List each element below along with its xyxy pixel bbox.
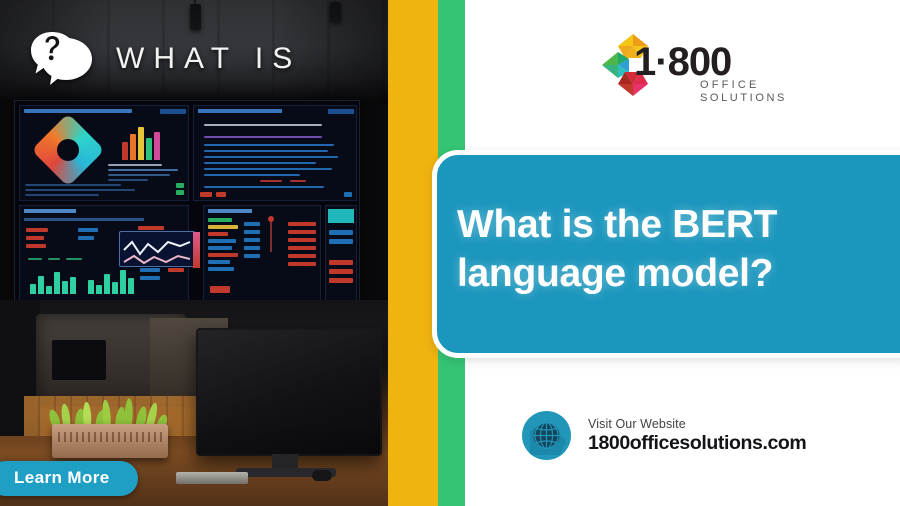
eyebrow-group: WHAT IS [30,30,301,88]
planter-box [52,424,168,458]
logo-office-line: OFFICE [700,79,760,92]
yellow-accent-stripe [388,0,438,506]
website-url[interactable]: 1800officesolutions.com [588,432,806,455]
dashboard-bar-chart [30,268,76,294]
title-card: What is the BERT language model? [432,150,900,358]
dashboard-video-wall [14,100,360,305]
dashboard-diamond-graphic [31,113,105,187]
ceiling-lamp-icon [190,4,201,30]
title-line-2: language model? [457,250,777,299]
desk-monitor [196,328,382,456]
question-speech-bubble-icon [30,30,96,88]
title-text: What is the BERT language model? [457,201,777,299]
waveform-svg [120,232,196,268]
keyboard [176,472,248,484]
background-monitor [52,340,106,380]
dashboard-panel [203,205,321,301]
logo-number: 1·800 [634,42,731,82]
mouse [312,470,332,481]
ceiling-lamp-icon [330,2,341,22]
dashboard-bar-chart [122,126,160,160]
brand-logo[interactable]: 1·800 OFFICE SOLUTIONS [596,24,756,102]
title-line-1: What is the BERT [457,201,777,250]
dashboard-waveform-chart [119,231,195,267]
dashboard-bar-chart [88,268,134,294]
dashboard-panel [325,205,357,301]
banner-canvas: WHAT IS Learn More [0,0,900,506]
dashboard-panel [19,105,189,201]
website-group[interactable]: Visit Our Website 1800officesolutions.co… [522,411,806,460]
logo-solutions-line: SOLUTIONS [700,92,787,105]
website-text: Visit Our Website 1800officesolutions.co… [588,417,806,455]
globe-icon [522,411,571,460]
dashboard-panel [193,105,357,201]
website-label: Visit Our Website [588,417,806,431]
learn-more-button[interactable]: Learn More [0,461,138,496]
eyebrow-label: WHAT IS [116,42,301,76]
